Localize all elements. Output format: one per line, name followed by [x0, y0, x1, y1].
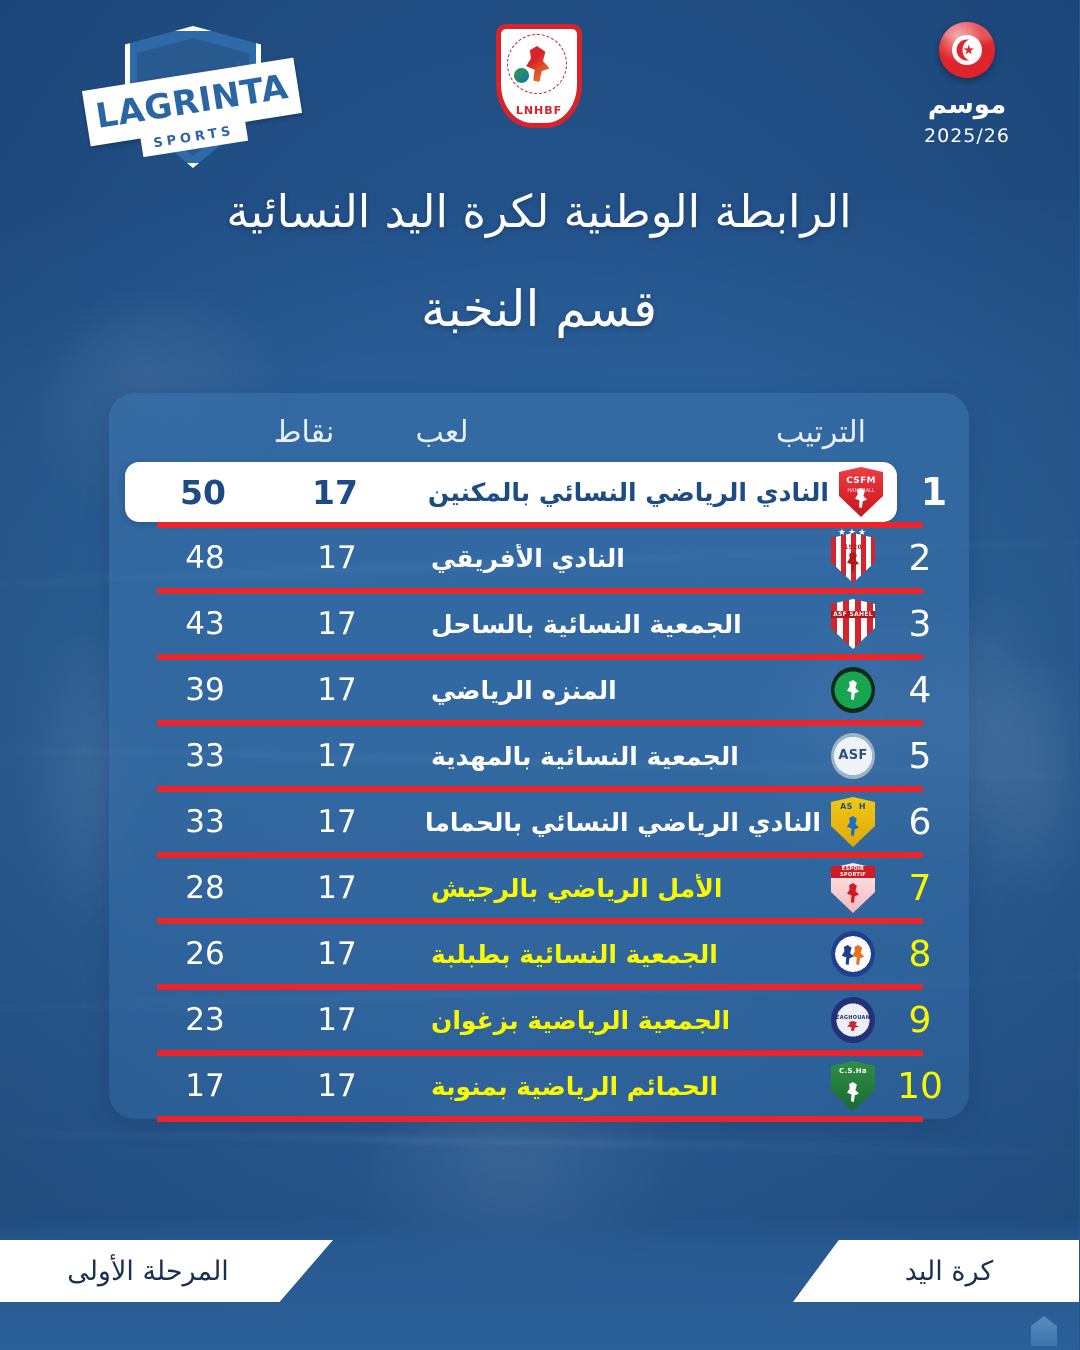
- asf-teboulba-crest-icon: [832, 929, 876, 979]
- season-label: موسم: [908, 92, 1028, 118]
- row-inner: 9 ZAGHOUAN الجمعية الرياضية بزغوان 17 23: [126, 987, 956, 1053]
- cell-rank: 2: [886, 538, 956, 579]
- cell-team: المنزه الرياضي: [426, 676, 822, 705]
- row-inner: 10 C.S.Ha الحمائم الرياضية بمنوبة 17 17: [126, 1053, 956, 1119]
- cell-played: 17: [278, 606, 398, 642]
- cell-points: 33: [136, 738, 276, 774]
- federation-crest-icon[interactable]: LNHBF: [497, 24, 583, 128]
- cell-team: الحمائم الرياضية بمنوبة: [426, 1072, 822, 1101]
- cell-rank: 4: [886, 670, 956, 711]
- csfm-crest-icon: CSFM HANDBALL: [840, 467, 884, 517]
- cell-played: 17: [278, 738, 398, 774]
- ash-hammamet-crest-icon: AS H: [832, 797, 876, 847]
- as-zaghouan-crest-icon: ZAGHOUAN: [832, 995, 876, 1045]
- title-block: الرابطة الوطنية لكرة اليد النسائية قسم ا…: [0, 186, 1080, 338]
- cell-crest: [824, 927, 884, 981]
- column-header-rank: الترتيب: [702, 415, 942, 450]
- cell-crest: [824, 663, 884, 717]
- cell-rank: 10: [886, 1066, 956, 1107]
- row-divider: [158, 1116, 924, 1122]
- el-menzah-crest-icon: [832, 665, 876, 715]
- table-row[interactable]: 5 ASF الجمعية النسائية بالمهدية 17 33: [110, 723, 970, 789]
- cell-played: 17: [278, 1002, 398, 1038]
- cell-rank: 3: [886, 604, 956, 645]
- table-row[interactable]: 2 ★★★ 1920 النادي الأفريقي 17 48: [110, 525, 970, 591]
- cell-team: الجمعية النسائية بطبلبة: [426, 940, 822, 969]
- column-header-played: لعب: [378, 415, 508, 450]
- cell-team: الجمعية النسائية بالمهدية: [426, 742, 822, 771]
- table-row[interactable]: 1 CSFM HANDBALL النادي الرياضي النسائي ب…: [110, 459, 970, 525]
- cell-crest: AS H: [824, 795, 884, 849]
- standings-card: الترتيب لعب نقاط 1 CSFM HANDBALL النادي …: [110, 393, 970, 1119]
- cell-rank: 9: [886, 1000, 956, 1041]
- table-row[interactable]: 4 المنزه الرياضي 17 39: [110, 657, 970, 723]
- handball-ball-icon: [515, 68, 530, 83]
- cell-rank: 1: [900, 470, 970, 514]
- cell-points: 48: [136, 540, 276, 576]
- cell-points: 43: [136, 606, 276, 642]
- cell-crest: ★★★ 1920: [824, 531, 884, 585]
- tunisia-flag-ball-icon: [940, 22, 996, 78]
- cell-played: 17: [278, 870, 398, 906]
- season-badge: موسم 2025/26: [908, 22, 1028, 147]
- row-inner: 8 الجمعية النسائية بطبلبة 17 26: [126, 921, 956, 987]
- cell-crest: C.S.Ha: [824, 1059, 884, 1113]
- page-footer: المرحلة الأولى كرة اليد: [0, 1218, 1080, 1350]
- table-row[interactable]: 8 الجمعية النسائية بطبلبة 17 26: [110, 921, 970, 987]
- csh-manouba-crest-icon: C.S.Ha: [832, 1061, 876, 1111]
- cell-team: الجمعية النسائية بالساحل: [426, 610, 822, 639]
- page-header: LAGRINTA SPORTS LNHBF موسم 2025/26: [0, 0, 1080, 190]
- cell-points: 39: [136, 672, 276, 708]
- cell-team: الأمل الرياضي بالرجيش: [426, 874, 822, 903]
- table-row[interactable]: 9 ZAGHOUAN الجمعية الرياضية بزغوان 17 23: [110, 987, 970, 1053]
- cell-crest: ESPOIR SPORTIF: [824, 861, 884, 915]
- table-row[interactable]: 3 ASF SAHEL الجمعية النسائية بالساحل 17 …: [110, 591, 970, 657]
- cell-played: 17: [276, 473, 396, 512]
- asf-sahel-crest-icon: ASF SAHEL: [832, 599, 876, 649]
- cell-points: 33: [136, 804, 276, 840]
- cell-played: 17: [278, 936, 398, 972]
- cell-rank: 8: [886, 934, 956, 975]
- row-inner: 5 ASF الجمعية النسائية بالمهدية 17 33: [126, 723, 956, 789]
- cell-points: 23: [136, 1002, 276, 1038]
- cell-team: النادي الأفريقي: [426, 544, 822, 573]
- stage-tag[interactable]: المرحلة الأولى: [0, 1240, 334, 1302]
- cell-points: 17: [136, 1068, 276, 1104]
- cell-played: 17: [278, 1068, 398, 1104]
- table-row[interactable]: 10 C.S.Ha الحمائم الرياضية بمنوبة 17 17: [110, 1053, 970, 1119]
- row-inner: 7 ESPOIR SPORTIF الأمل الرياضي بالرجيش 1…: [126, 855, 956, 921]
- row-inner: 4 المنزه الرياضي 17 39: [126, 657, 956, 723]
- lagrinta-logo[interactable]: LAGRINTA SPORTS: [86, 22, 300, 172]
- cell-crest: ZAGHOUAN: [824, 993, 884, 1047]
- table-body: 1 CSFM HANDBALL النادي الرياضي النسائي ب…: [110, 459, 970, 1119]
- cell-rank: 5: [886, 736, 956, 777]
- row-inner: 1 CSFM HANDBALL النادي الرياضي النسائي ب…: [126, 459, 898, 525]
- cell-team: النادي الرياضي النسائي بالحمامات: [426, 808, 822, 837]
- espoir-rejiche-crest-icon: ESPOIR SPORTIF: [832, 863, 876, 913]
- sport-tag-label: كرة اليد: [906, 1256, 995, 1287]
- asf-mahdia-crest-icon: ASF: [832, 731, 876, 781]
- column-header-points: نقاط: [230, 415, 380, 450]
- table-header-row: الترتيب لعب نقاط: [110, 405, 970, 459]
- federation-abbr: LNHBF: [497, 104, 583, 117]
- season-value: 2025/26: [908, 125, 1028, 147]
- row-inner: 3 ASF SAHEL الجمعية النسائية بالساحل 17 …: [126, 591, 956, 657]
- table-row[interactable]: 7 ESPOIR SPORTIF الأمل الرياضي بالرجيش 1…: [110, 855, 970, 921]
- cell-played: 17: [278, 804, 398, 840]
- cell-team: الجمعية الرياضية بزغوان: [426, 1006, 822, 1035]
- cell-rank: 6: [886, 802, 956, 843]
- cell-points: 26: [136, 936, 276, 972]
- table-row[interactable]: 6 AS H النادي الرياضي النسائي بالحمامات …: [110, 789, 970, 855]
- cell-crest: ASF: [824, 729, 884, 783]
- cell-crest: ASF SAHEL: [824, 597, 884, 651]
- row-inner: 6 AS H النادي الرياضي النسائي بالحمامات …: [126, 789, 956, 855]
- cell-crest: CSFM HANDBALL: [832, 465, 892, 519]
- sport-tag[interactable]: كرة اليد: [794, 1240, 1080, 1302]
- cell-team: النادي الرياضي النسائي بالمكنين: [426, 478, 830, 507]
- cell-points: 50: [134, 473, 274, 512]
- cell-played: 17: [278, 672, 398, 708]
- page-subtitle: قسم النخبة: [0, 280, 1080, 338]
- cell-points: 28: [136, 870, 276, 906]
- stage-tag-label: المرحلة الأولى: [68, 1256, 230, 1287]
- cell-rank: 7: [886, 868, 956, 909]
- page-title: الرابطة الوطنية لكرة اليد النسائية: [0, 186, 1080, 238]
- row-inner: 2 ★★★ 1920 النادي الأفريقي 17 48: [126, 525, 956, 591]
- club-africain-crest-icon: ★★★ 1920: [832, 533, 876, 583]
- cell-played: 17: [278, 540, 398, 576]
